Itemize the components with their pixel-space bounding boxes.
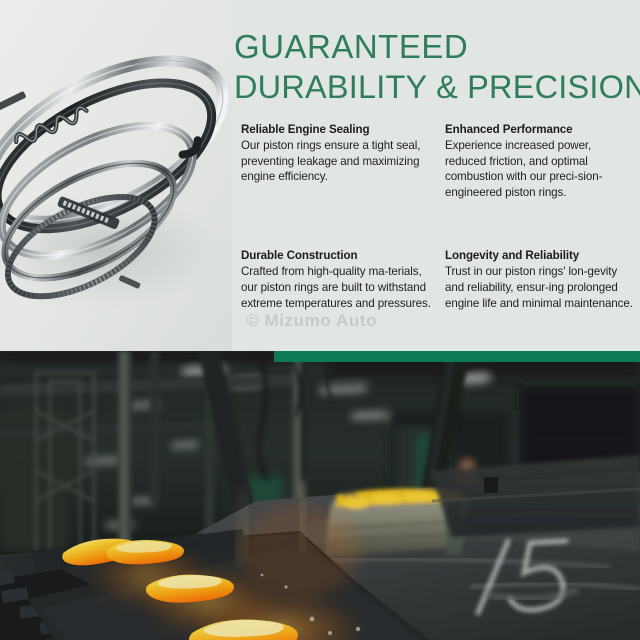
headline: GUARANTEED DURABILITY & PRECISION	[234, 27, 634, 107]
product-image-piston-rings	[0, 0, 232, 351]
feature-body: Crafted from high-quality ma-terials, ou…	[241, 264, 437, 311]
factory-image	[0, 351, 640, 640]
feature-durable-construction: Durable Construction Crafted from high-q…	[241, 248, 437, 311]
piston-ring-photo-icon	[0, 0, 232, 351]
feature-title: Longevity and Reliability	[445, 248, 633, 263]
accent-bar	[274, 351, 640, 362]
feature-body: Our piston rings ensure a tight seal, pr…	[241, 138, 437, 185]
feature-body: Trust in our piston rings' lon-gevity an…	[445, 264, 633, 311]
feature-title: Reliable Engine Sealing	[241, 122, 437, 137]
feature-enhanced-performance: Enhanced Performance Experience increase…	[445, 122, 633, 200]
headline-line-2: DURABILITY & PRECISION	[234, 67, 634, 107]
feature-title: Durable Construction	[241, 248, 437, 263]
feature-grid: Reliable Engine Sealing Our piston rings…	[241, 122, 625, 311]
factory-photo-icon	[0, 351, 640, 640]
watermark: © Mizumo Auto	[246, 311, 377, 331]
headline-line-1: GUARANTEED	[234, 27, 634, 67]
feature-title: Enhanced Performance	[445, 122, 633, 137]
feature-reliable-engine-sealing: Reliable Engine Sealing Our piston rings…	[241, 122, 437, 200]
feature-body: Experience increased power, reduced fric…	[445, 138, 633, 200]
feature-longevity-and-reliability: Longevity and Reliability Trust in our p…	[445, 248, 633, 311]
top-content-section: GUARANTEED DURABILITY & PRECISION Reliab…	[0, 0, 640, 351]
